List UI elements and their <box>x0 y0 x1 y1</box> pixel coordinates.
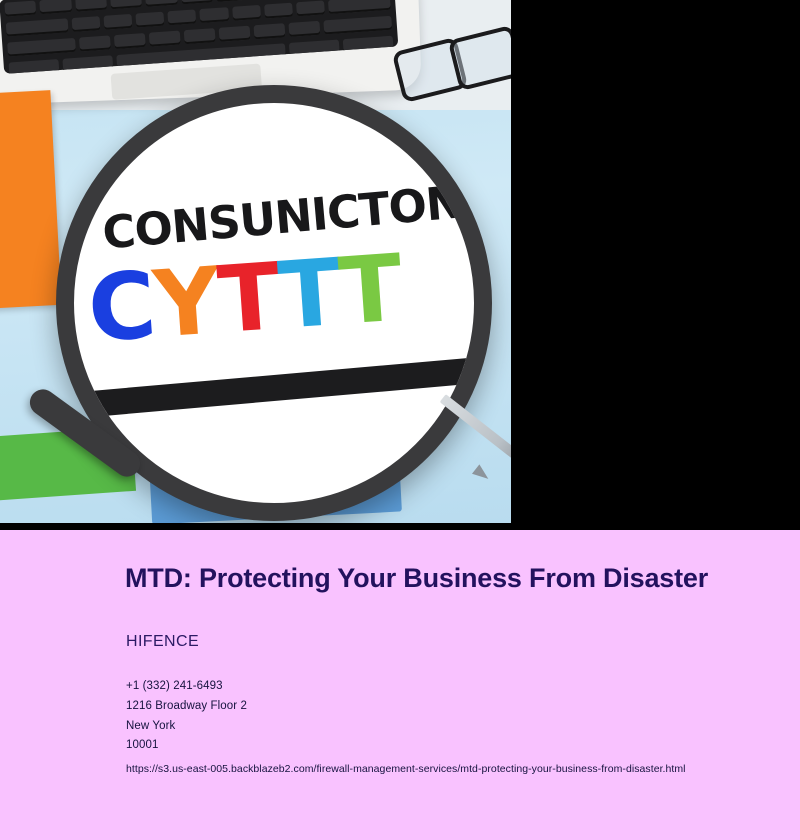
page-title: MTD: Protecting Your Business From Disas… <box>125 562 725 595</box>
key <box>79 35 111 51</box>
key <box>200 7 229 23</box>
key <box>184 28 216 44</box>
keyboard-icon <box>0 0 398 74</box>
key <box>343 36 394 53</box>
phone-number: +1 (332) 241-6493 <box>126 677 766 697</box>
key <box>4 1 36 17</box>
laptop-icon <box>0 0 422 104</box>
key <box>289 39 340 56</box>
key <box>145 0 177 7</box>
key <box>7 38 76 57</box>
hero-photo: CONSUNICTON CYTTT <box>0 0 511 523</box>
key <box>75 0 107 12</box>
key <box>288 21 320 37</box>
magnifier-letter-5: T <box>336 243 403 339</box>
key <box>9 59 60 74</box>
key <box>6 18 69 36</box>
magnifier-letter-1: C <box>85 260 157 356</box>
key <box>232 5 261 21</box>
address-line: 1216 Broadway Floor 2 <box>126 697 766 717</box>
magnifier-letter-4: T <box>276 247 343 343</box>
magnifier-letters: CYTTT <box>85 238 470 356</box>
magnifier-letter-3: T <box>215 251 282 347</box>
key <box>62 55 113 72</box>
key <box>114 33 146 49</box>
key <box>136 12 165 28</box>
magnifier-dark-bar <box>56 356 492 420</box>
key <box>296 0 325 16</box>
article-content: MTD: Protecting Your Business From Disas… <box>0 530 800 840</box>
page-root: CONSUNICTON CYTTT MTD: Protecting Your B… <box>0 0 800 840</box>
key <box>219 26 251 42</box>
magnifier-letter-2: Y <box>151 255 222 351</box>
key <box>110 0 142 9</box>
contact-details: +1 (332) 241-6493 1216 Broadway Floor 2 … <box>126 677 766 775</box>
key <box>149 31 181 47</box>
zip-line: 10001 <box>126 736 766 756</box>
key <box>168 9 197 25</box>
key <box>323 16 392 35</box>
key <box>254 23 286 39</box>
brand-name: HIFENCE <box>126 633 199 651</box>
key <box>181 0 213 4</box>
key <box>40 0 72 14</box>
eyeglasses-icon <box>397 26 511 100</box>
key <box>72 16 101 32</box>
key <box>104 14 133 30</box>
key <box>264 3 293 19</box>
key <box>328 0 391 14</box>
media-band: CONSUNICTON CYTTT <box>0 0 800 530</box>
city-line: New York <box>126 717 766 737</box>
article-url[interactable]: https://s3.us-east-005.backblazeb2.com/f… <box>126 763 766 775</box>
lens-right <box>448 25 511 91</box>
key <box>216 0 248 2</box>
